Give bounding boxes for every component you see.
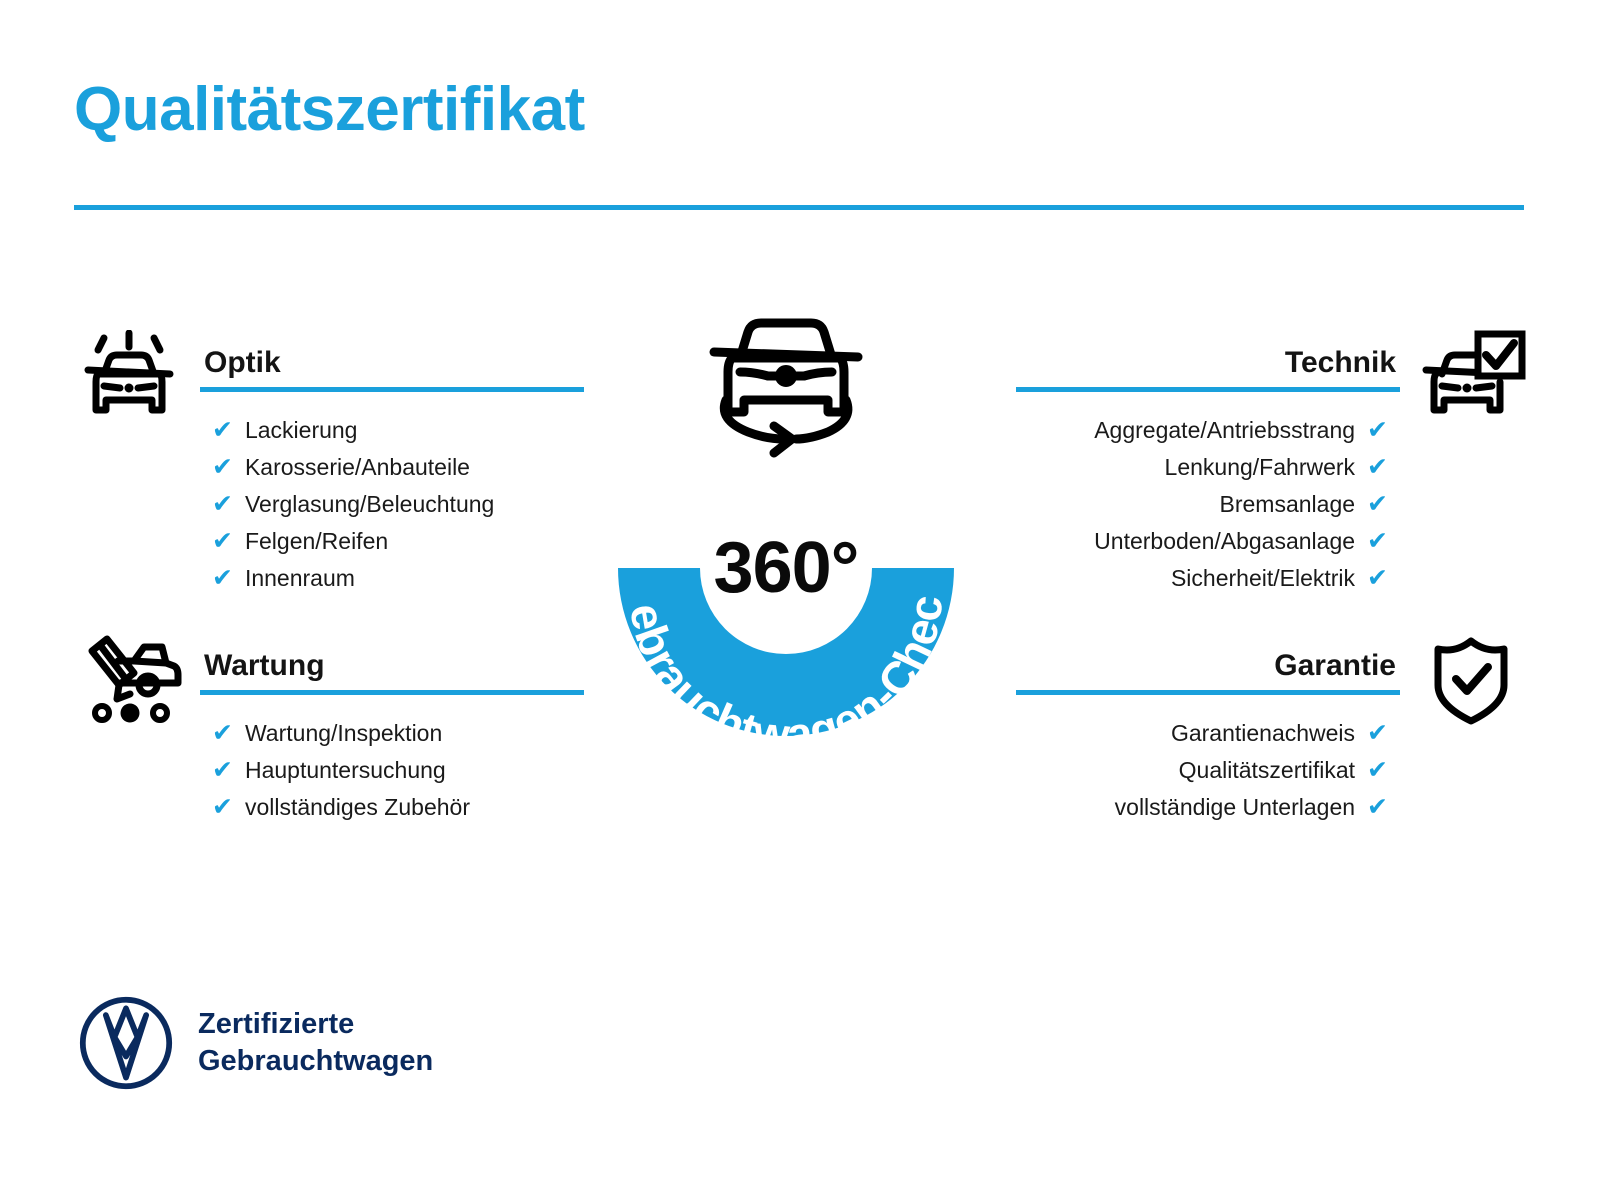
section-header-wartung: Wartung bbox=[74, 633, 584, 695]
section-title: Optik bbox=[204, 348, 281, 378]
list-item: Bremsanlage ✔ bbox=[1016, 486, 1526, 523]
section-optik: Optik ✔ Lackierung ✔ Karosserie/Anbautei… bbox=[74, 330, 584, 597]
list-item: ✔ Innenraum bbox=[74, 560, 584, 597]
check-icon: ✔ bbox=[1367, 529, 1388, 554]
list-item-label: Lackierung bbox=[245, 412, 358, 449]
list-item: ✔ Verglasung/Beleuchtung bbox=[74, 486, 584, 523]
section-divider bbox=[200, 387, 584, 392]
list-item-label: vollständige Unterlagen bbox=[1115, 789, 1355, 826]
page-title: Qualitätszertifikat bbox=[74, 76, 585, 144]
list-item: Unterboden/Abgasanlage ✔ bbox=[1016, 523, 1526, 560]
check-icon: ✔ bbox=[212, 492, 233, 517]
list-item-label: Lenkung/Fahrwerk bbox=[1165, 449, 1356, 486]
car-rotate-icon bbox=[688, 308, 884, 458]
header-divider bbox=[74, 205, 1524, 210]
checklist-wartung: ✔ Wartung/Inspektion ✔ Hauptuntersuchung… bbox=[74, 715, 584, 826]
list-item-label: Bremsanlage bbox=[1220, 486, 1356, 523]
footer-brand: Zertifizierte Gebrauchtwagen bbox=[78, 995, 433, 1091]
section-title: Garantie bbox=[1274, 651, 1396, 681]
list-item-label: Wartung/Inspektion bbox=[245, 715, 442, 752]
list-item-label: Innenraum bbox=[245, 560, 355, 597]
check-icon: ✔ bbox=[212, 455, 233, 480]
check-icon: ✔ bbox=[212, 418, 233, 443]
brand-claim: Zertifizierte Gebrauchtwagen bbox=[198, 1006, 433, 1080]
list-item: ✔ vollständiges Zubehör bbox=[74, 789, 584, 826]
section-title: Wartung bbox=[204, 651, 325, 681]
list-item-label: Felgen/Reifen bbox=[245, 523, 388, 560]
list-item: ✔ Hauptuntersuchung bbox=[74, 752, 584, 789]
list-item-label: Garantienachweis bbox=[1171, 715, 1355, 752]
brand-claim-line2: Gebrauchtwagen bbox=[198, 1043, 433, 1080]
check-icon: ✔ bbox=[212, 529, 233, 554]
section-garantie: Garantie Garantienachweis ✔ Qualitätszer… bbox=[1016, 633, 1526, 826]
list-item: ✔ Felgen/Reifen bbox=[74, 523, 584, 560]
section-divider bbox=[200, 690, 584, 695]
list-item: ✔ Karosserie/Anbauteile bbox=[74, 449, 584, 486]
checklist-technik: Aggregate/Antriebsstrang ✔ Lenkung/Fahrw… bbox=[1016, 412, 1526, 597]
check-icon: ✔ bbox=[1367, 418, 1388, 443]
section-divider bbox=[1016, 387, 1400, 392]
checklist-optik: ✔ Lackierung ✔ Karosserie/Anbauteile ✔ V… bbox=[74, 412, 584, 597]
check-icon: ✔ bbox=[1367, 492, 1388, 517]
check-icon: ✔ bbox=[1367, 566, 1388, 591]
list-item-label: Verglasung/Beleuchtung bbox=[245, 486, 494, 523]
brand-claim-line1: Zertifizierte bbox=[198, 1006, 433, 1043]
list-item-label: Qualitätszertifikat bbox=[1179, 752, 1355, 789]
check-icon: ✔ bbox=[212, 795, 233, 820]
certificate-page: Qualitätszertifikat Op bbox=[0, 0, 1600, 1200]
checklist-garantie: Garantienachweis ✔ Qualitätszertifikat ✔… bbox=[1016, 715, 1526, 826]
badge-center-value: 360° bbox=[566, 532, 1006, 604]
check-icon: ✔ bbox=[1367, 795, 1388, 820]
list-item: Sicherheit/Elektrik ✔ bbox=[1016, 560, 1526, 597]
badge-360-check: Gebrauchtwagen-Check 360° bbox=[566, 300, 1006, 770]
section-technik: Technik Aggregate/Antriebsstrang ✔ Lenku… bbox=[1016, 330, 1526, 597]
check-icon: ✔ bbox=[1367, 455, 1388, 480]
list-item-label: vollständiges Zubehör bbox=[245, 789, 470, 826]
section-header-technik: Technik bbox=[1016, 330, 1526, 392]
check-icon: ✔ bbox=[212, 758, 233, 783]
list-item-label: Karosserie/Anbauteile bbox=[245, 449, 470, 486]
list-item-label: Unterboden/Abgasanlage bbox=[1094, 523, 1355, 560]
section-divider bbox=[1016, 690, 1400, 695]
section-title: Technik bbox=[1285, 348, 1396, 378]
list-item-label: Sicherheit/Elektrik bbox=[1171, 560, 1355, 597]
section-header-optik: Optik bbox=[74, 330, 584, 392]
check-icon: ✔ bbox=[212, 721, 233, 746]
volkswagen-logo bbox=[78, 995, 174, 1091]
list-item: Lenkung/Fahrwerk ✔ bbox=[1016, 449, 1526, 486]
section-wartung: Wartung ✔ Wartung/Inspektion ✔ Hauptunte… bbox=[74, 633, 584, 826]
check-icon: ✔ bbox=[1367, 758, 1388, 783]
list-item-label: Hauptuntersuchung bbox=[245, 752, 446, 789]
check-icon: ✔ bbox=[1367, 721, 1388, 746]
check-icon: ✔ bbox=[212, 566, 233, 591]
list-item: vollständige Unterlagen ✔ bbox=[1016, 789, 1526, 826]
list-item-label: Aggregate/Antriebsstrang bbox=[1094, 412, 1355, 449]
list-item: Qualitätszertifikat ✔ bbox=[1016, 752, 1526, 789]
section-header-garantie: Garantie bbox=[1016, 633, 1526, 695]
